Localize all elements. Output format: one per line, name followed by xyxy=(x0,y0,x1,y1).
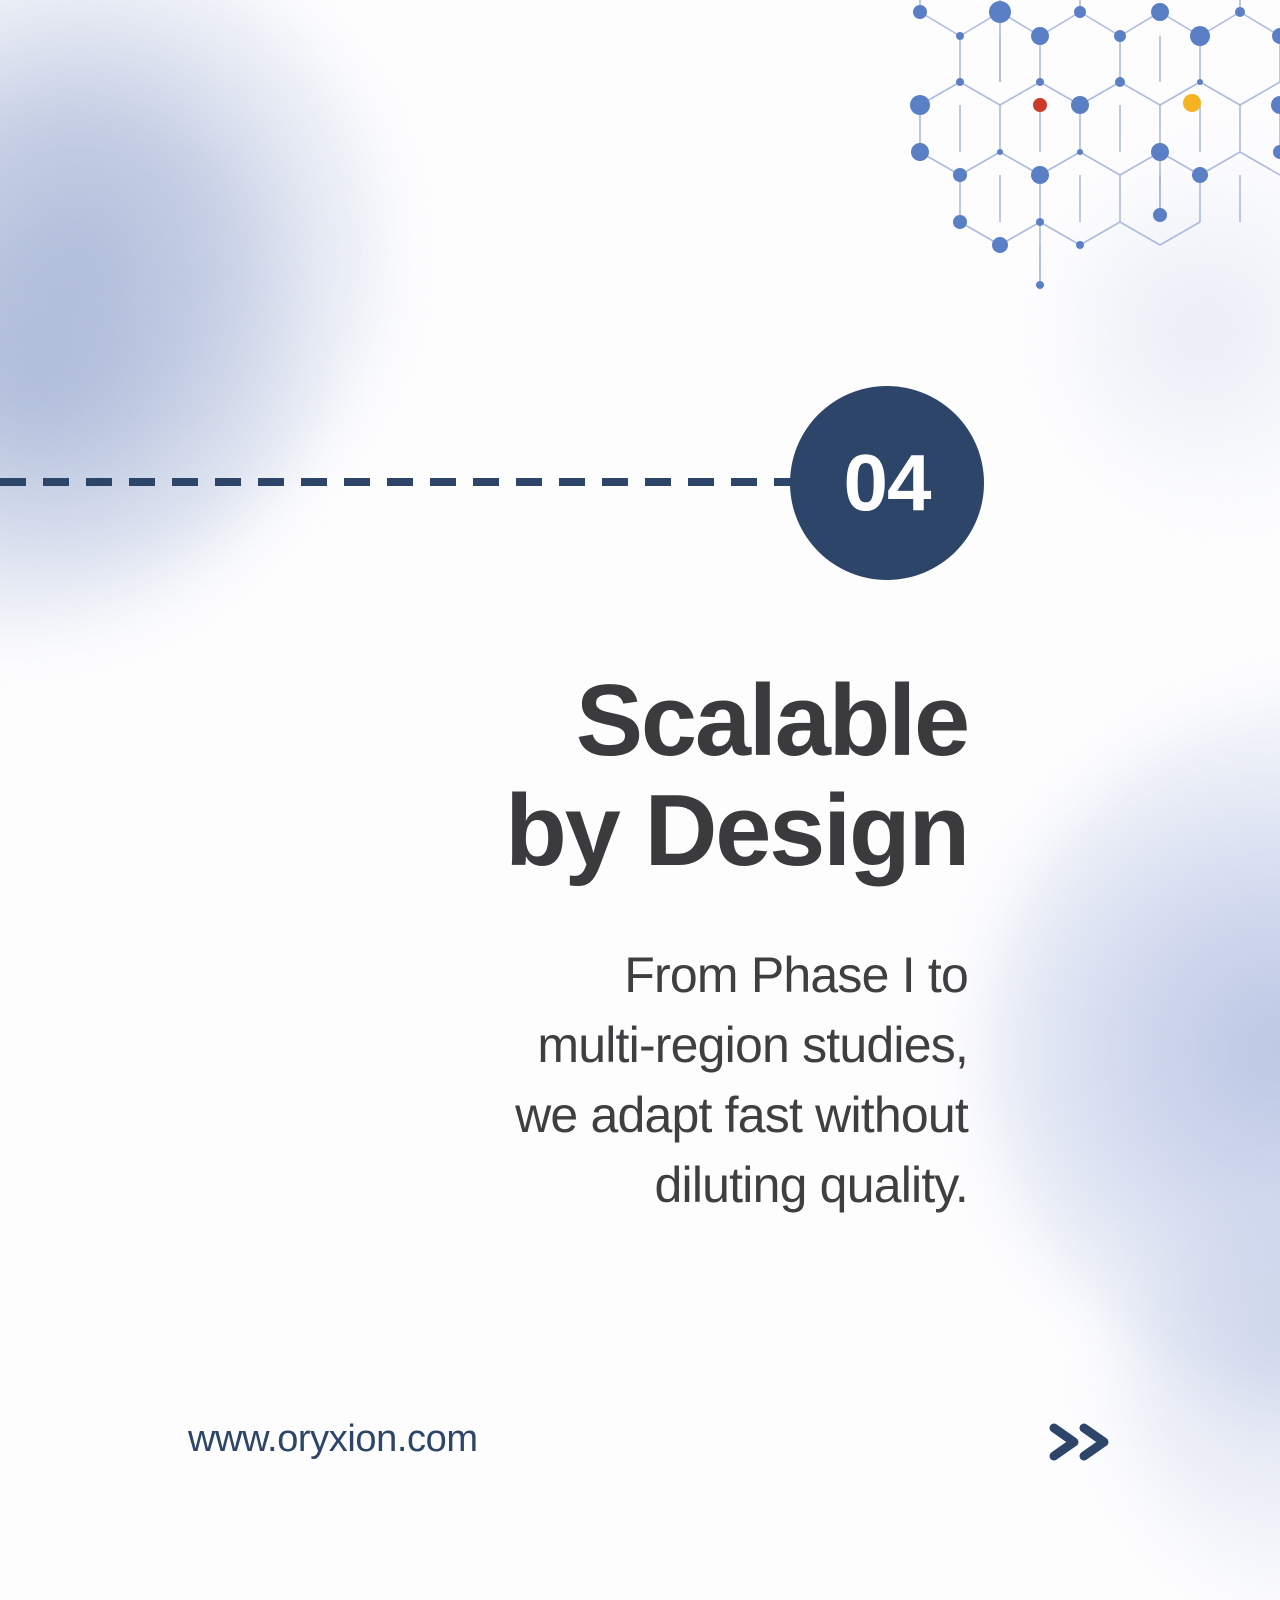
page-title: Scalable by Design xyxy=(220,666,968,886)
dash-segment xyxy=(473,478,499,486)
step-number-label: 04 xyxy=(844,443,931,523)
dash-segment xyxy=(258,478,284,486)
dash-segment xyxy=(430,478,456,486)
dash-segment xyxy=(645,478,671,486)
dash-segment xyxy=(516,478,542,486)
dash-segment xyxy=(43,478,69,486)
body-paragraph: From Phase I to multi-region studies, we… xyxy=(300,940,968,1220)
hex-node-red xyxy=(1033,98,1047,112)
background-blob-left xyxy=(0,0,390,560)
slide-canvas: 04 Scalable by Design From Phase I to mu… xyxy=(0,0,1280,1600)
dash-segment xyxy=(129,478,155,486)
double-chevron-right-icon[interactable] xyxy=(1046,1418,1114,1466)
dash-segment xyxy=(559,478,585,486)
dash-segment xyxy=(215,478,241,486)
hex-node-yellow xyxy=(1183,94,1201,112)
dash-segment xyxy=(731,478,757,486)
dashed-connector-line xyxy=(0,478,800,486)
dash-segment xyxy=(172,478,198,486)
background-blob-bottom-right xyxy=(1120,1180,1280,1600)
dash-segment xyxy=(0,478,26,486)
dash-segment xyxy=(602,478,628,486)
background-blob-left-secondary xyxy=(0,150,300,630)
dash-segment xyxy=(387,478,413,486)
background-blob-right xyxy=(985,700,1280,1400)
dash-segment xyxy=(688,478,714,486)
dash-segment xyxy=(344,478,370,486)
dash-segment xyxy=(301,478,327,486)
hexagon-molecule-pattern xyxy=(900,0,1280,300)
footer-website-url[interactable]: www.oryxion.com xyxy=(188,1418,478,1461)
step-number-badge: 04 xyxy=(790,386,984,580)
dash-segment xyxy=(86,478,112,486)
